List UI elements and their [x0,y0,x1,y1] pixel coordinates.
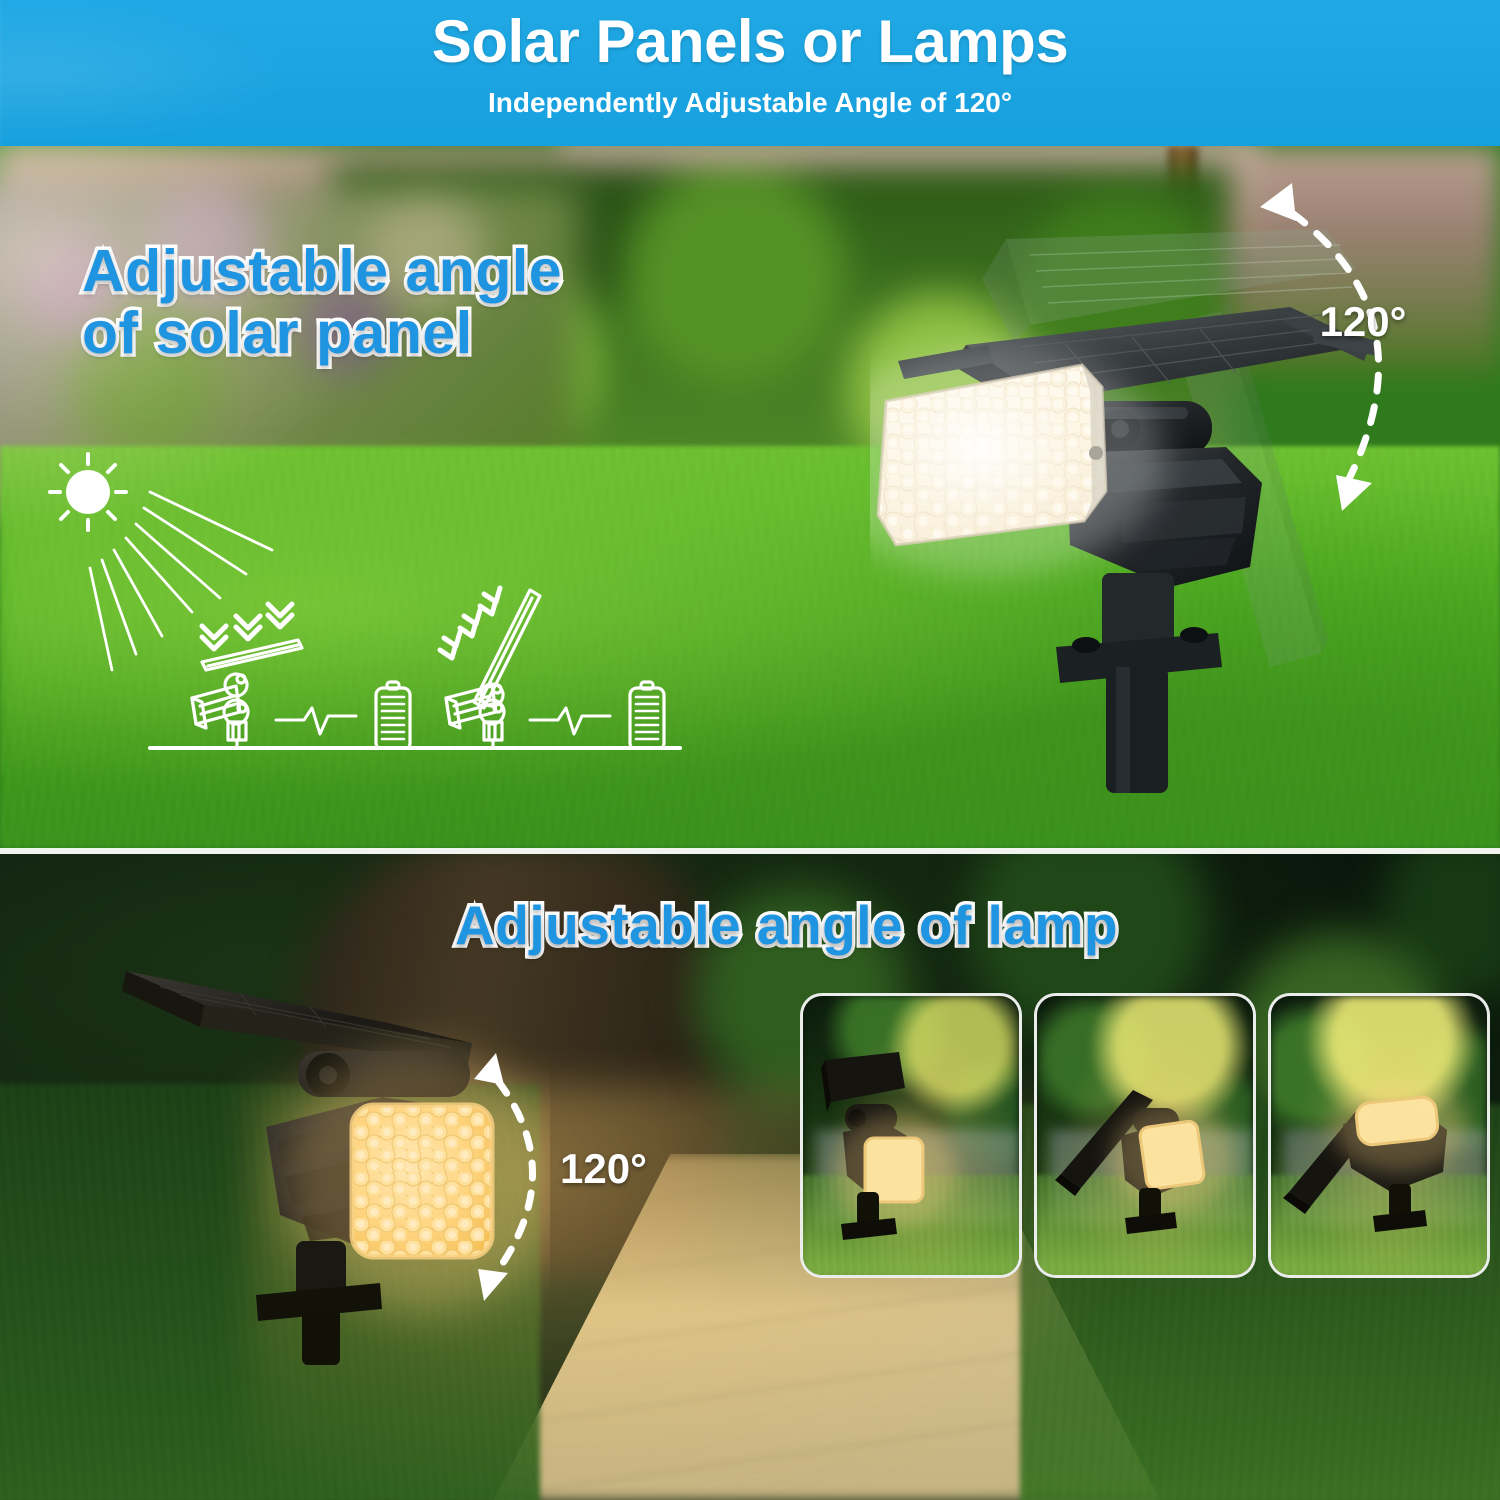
chevron-down-icon [202,604,292,649]
charging-diagram [40,440,700,750]
thumb-lamp-icon [1283,1080,1467,1232]
thumb-lamp-icon [821,1052,957,1240]
bottom-headline: Adjustable angle of lamp [455,895,1118,955]
top-headline-line-2: of solar panel [82,302,562,364]
ground-stake [1056,573,1222,793]
arrow-head-down [1336,475,1372,511]
thumbnail-gallery [800,993,1490,1278]
solar-lamp-icon-flat [192,640,302,748]
top-headline-line-1: Adjustable angle [82,240,562,302]
signal-pulse-icon-a [276,708,356,734]
angle-value-bottom: 120° [560,1145,720,1193]
arrow-head-up [1260,183,1296,221]
battery-icon-a [376,682,410,750]
thumbnail-lamp-angle-low[interactable] [800,993,1022,1278]
angle-arc [1292,213,1379,481]
chevron-down-icon-b [440,588,500,658]
thumbnail-lamp-angle-high[interactable] [1268,993,1490,1278]
header-banner: Solar Panels or Lamps Independently Adju… [0,0,1500,146]
battery-icon-b [630,682,664,750]
arrow-head-up-bottom [474,1053,504,1085]
thumbnail-lamp-angle-medium[interactable] [1034,993,1256,1278]
page-title: Solar Panels or Lamps [0,8,1500,76]
header-subtitle: Independently Adjustable Angle of 120° [0,86,1500,120]
angle-value-top: 120° [1278,298,1448,346]
arrow-head-down-bottom [478,1269,508,1301]
header-subtitle-text: Independently Adjustable Angle of [488,87,954,118]
header-subtitle-angle: 120° [954,87,1012,118]
top-headline: Adjustable angle of solar panel [82,240,562,364]
thumb-lamp-icon [1055,1090,1235,1234]
signal-pulse-icon-b [530,708,610,734]
angle-annotation-bottom: 120° [440,1045,740,1310]
sun-rays [90,492,272,670]
product-feature-image: Solar Panels or Lamps Independently Adju… [0,0,1500,1500]
angle-arc-bottom [496,1081,533,1273]
angle-annotation-top: 120° [1230,165,1490,530]
sun-icon [50,454,126,530]
